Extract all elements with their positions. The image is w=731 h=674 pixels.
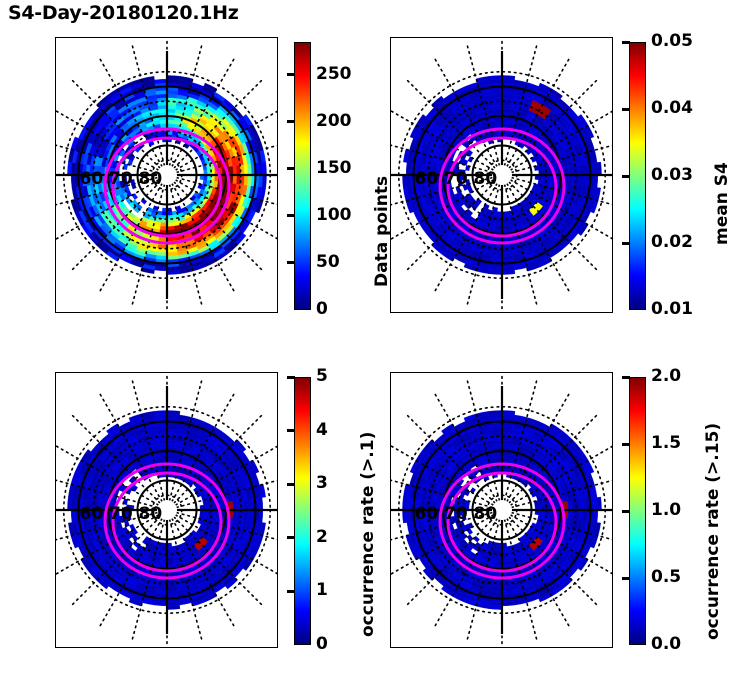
heatmap-cell	[502, 601, 515, 605]
colorbar-tick-mark	[287, 261, 295, 264]
heatmap-cell	[158, 237, 167, 241]
colorbar-mean-s4	[629, 42, 646, 310]
colorbar-tick-label: 1	[316, 582, 328, 599]
heatmap-cell	[154, 601, 167, 605]
colorbar-tick-label: 4	[316, 422, 328, 439]
colorbar-tick-label: 0.01	[651, 301, 693, 318]
heatmap-cell	[167, 75, 180, 80]
colorbar-occurrence-rate-015	[629, 377, 646, 645]
radial-tick-label: 60	[415, 169, 439, 189]
colorbar-tick-label: 0.05	[651, 33, 693, 50]
panel-occurrence-rate-015: 607080 0.00.51.01.52.0 occurrence rate (…	[390, 372, 666, 650]
heatmap-cell	[233, 510, 237, 519]
colorbar-tick-label: 1.0	[651, 502, 681, 519]
colorbar-tick-mark	[622, 510, 630, 513]
heatmap-cell	[493, 444, 502, 448]
figure-title: S4-Day-20180120.1Hz	[8, 2, 239, 24]
heatmap-cell	[233, 175, 237, 184]
panel-mean-s4: 607080 0.010.020.030.040.05 mean S4	[390, 37, 666, 315]
colorbar-tick-label: 0.04	[651, 100, 693, 117]
heatmap-cell	[568, 166, 572, 175]
polar-plot-mean-s4: 607080	[390, 37, 613, 313]
colorbar-tick-label: 0.02	[651, 234, 693, 251]
heatmap-cell	[493, 105, 502, 109]
heatmap-cell	[564, 501, 568, 510]
heatmap-cell	[502, 270, 515, 275]
heatmap-cell	[71, 510, 75, 523]
radial-tick-label: 60	[415, 504, 439, 524]
colorbar-tick-label: 250	[316, 66, 352, 83]
heatmap-cell	[67, 162, 72, 175]
heatmap-cell	[402, 510, 407, 523]
heatmap-cell	[493, 237, 502, 241]
colorbar-tick-mark	[287, 167, 295, 170]
colorbar-label-data-points: Data points	[372, 176, 392, 287]
heatmap-cell	[167, 605, 180, 610]
heatmap-cell	[167, 270, 180, 275]
heatmap-cell	[258, 497, 262, 510]
heatmap-cell	[402, 175, 407, 188]
heatmap-cell	[167, 440, 176, 444]
heatmap-cell	[167, 237, 176, 241]
colorbar-tick-label: 0	[316, 301, 328, 318]
heatmap-cell	[489, 270, 502, 275]
panel-data-points: 607080 050100150200250 Data points	[55, 37, 331, 315]
polar-plot-data-points: 607080	[55, 37, 278, 313]
colorbar-tick-mark	[622, 577, 630, 580]
colorbar-tick-label: 100	[316, 207, 352, 224]
figure-canvas: S4-Day-20180120.1Hz 607080 0501001502002…	[0, 0, 731, 674]
heatmap-cell	[564, 166, 568, 175]
heatmap-cell	[502, 444, 511, 448]
heatmap-cell	[158, 109, 167, 113]
heatmap-cell	[568, 175, 572, 184]
heatmap-cell	[502, 109, 511, 113]
colorbar-tick-mark	[622, 108, 630, 111]
colorbar-tick-mark	[622, 443, 630, 446]
colorbar-tick-mark	[287, 376, 295, 379]
colorbar-tick-label: 0	[316, 636, 328, 653]
heatmap-cell	[154, 410, 167, 415]
heatmap-cell	[489, 605, 502, 610]
heatmap-cell	[167, 444, 176, 448]
heatmap-cell	[154, 266, 167, 270]
heatmap-cell	[493, 109, 502, 113]
heatmap-cell	[154, 79, 167, 83]
heatmap-cell	[493, 440, 502, 444]
colorbar-tick-label: 2	[316, 529, 328, 546]
heatmap-cell	[489, 410, 502, 415]
colorbar-tick-mark	[287, 120, 295, 123]
heatmap-cell	[158, 444, 167, 448]
heatmap-cell	[71, 175, 75, 188]
radial-tick-label: 80	[139, 169, 163, 189]
colorbar-tick-mark	[287, 536, 295, 539]
colorbar-tick-label: 0.5	[651, 569, 681, 586]
heatmap-cell	[489, 75, 502, 80]
polar-plot-occurrence-rate-015: 607080	[390, 372, 613, 648]
colorbar-tick-mark	[622, 175, 630, 178]
heatmap-cell	[502, 410, 515, 415]
heatmap-cell	[167, 410, 180, 415]
radial-tick-label: 60	[80, 504, 104, 524]
colorbar-occurrence-rate-01	[294, 377, 311, 645]
radial-tick-labels: 607080	[415, 169, 498, 189]
radial-tick-labels: 607080	[80, 504, 163, 524]
colorbar-tick-label: 3	[316, 475, 328, 492]
colorbar-tick-mark	[287, 483, 295, 486]
heatmap-cell	[597, 162, 602, 175]
radial-tick-label: 70	[109, 169, 133, 189]
heatmap-cell	[568, 501, 572, 510]
colorbar-label-occurrence-rate-015: occurrence rate (>.15)	[703, 423, 723, 640]
radial-tick-labels: 607080	[415, 504, 498, 524]
colorbar-tick-label: 50	[316, 254, 340, 271]
heatmap-cell	[158, 440, 167, 444]
heatmap-cell	[597, 497, 602, 510]
colorbar-tick-mark	[287, 429, 295, 432]
heatmap-cell	[258, 510, 262, 523]
radial-tick-label: 70	[109, 504, 133, 524]
heatmap-cell	[158, 105, 167, 109]
heatmap-cell	[158, 572, 167, 576]
heatmap-cell	[593, 510, 597, 523]
heatmap-cell	[502, 440, 511, 444]
heatmap-cell	[167, 572, 176, 576]
radial-tick-labels: 607080	[80, 169, 163, 189]
colorbar-label-mean-s4: mean S4	[712, 162, 731, 245]
polar-plot-occurrence-rate-01: 607080	[55, 372, 278, 648]
heatmap-cell	[233, 501, 237, 510]
heatmap-cell	[502, 75, 515, 80]
radial-tick-label: 80	[474, 169, 498, 189]
heatmap-cell	[593, 175, 597, 188]
colorbar-tick-mark	[622, 41, 630, 44]
heatmap-cell	[502, 237, 511, 241]
colorbar-tick-label: 5	[316, 368, 328, 385]
heatmap-cell	[229, 501, 233, 510]
heatmap-cell	[233, 166, 237, 175]
heatmap-cell	[262, 162, 267, 175]
radial-tick-label: 60	[80, 169, 104, 189]
heatmap-cell	[493, 572, 502, 576]
radial-tick-label: 70	[444, 504, 468, 524]
colorbar-tick-label: 200	[316, 113, 352, 130]
heatmap-cell	[229, 166, 233, 175]
colorbar-tick-label: 0.03	[651, 167, 693, 184]
heatmap-cell	[406, 162, 410, 175]
colorbar-tick-label: 1.5	[651, 435, 681, 452]
heatmap-cell	[502, 105, 511, 109]
colorbar-tick-mark	[622, 242, 630, 245]
colorbar-tick-mark	[287, 214, 295, 217]
colorbar-tick-mark	[622, 376, 630, 379]
radial-tick-label: 80	[139, 504, 163, 524]
colorbar-tick-label: 0.0	[651, 636, 681, 653]
heatmap-cell	[502, 572, 511, 576]
colorbar-tick-mark	[287, 73, 295, 76]
heatmap-cell	[167, 109, 176, 113]
colorbar-label-occurrence-rate-01: occurrence rate (>.1)	[358, 432, 378, 637]
colorbar-tick-label: 2.0	[651, 368, 681, 385]
colorbar-tick-label: 150	[316, 160, 352, 177]
heatmap-cell	[568, 510, 572, 519]
radial-tick-label: 70	[444, 169, 468, 189]
colorbar-data-points	[294, 42, 311, 310]
heatmap-cell	[402, 497, 407, 510]
radial-tick-label: 80	[474, 504, 498, 524]
heatmap-cell	[67, 497, 72, 510]
heatmap-cell	[167, 105, 176, 109]
panel-occurrence-rate-01: 607080 012345 occurrence rate (>.1)	[55, 372, 331, 650]
colorbar-tick-mark	[287, 590, 295, 593]
heatmap-cell	[262, 175, 267, 188]
